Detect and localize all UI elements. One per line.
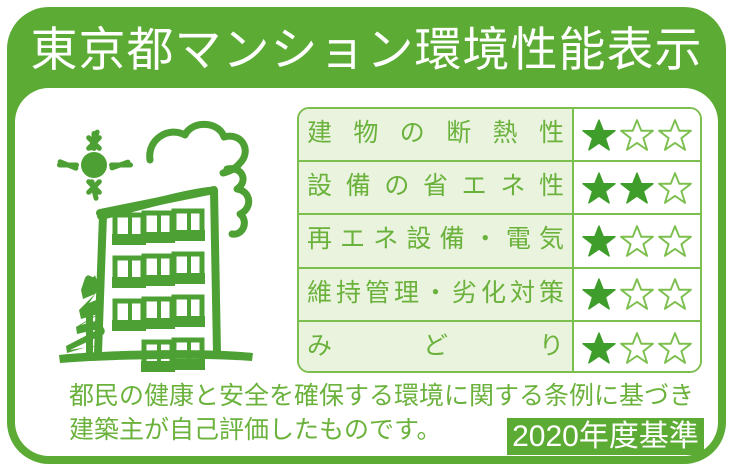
rating-stars [574, 215, 700, 266]
year-standard-badge: 2020年度基準 [507, 418, 704, 455]
rating-stars [574, 269, 700, 320]
star-filled-icon [582, 331, 616, 365]
rating-label: 設備の省エネ性 [299, 162, 574, 213]
star-empty-icon [658, 118, 692, 152]
star-empty-icon [658, 277, 692, 311]
star-filled-icon [582, 118, 616, 152]
table-row: 維持管理・劣化対策 [299, 269, 700, 322]
rating-table: 建物の断熱性 設備の省エネ性 再エネ設備・電気 [297, 107, 702, 373]
rating-label: 建物の断熱性 [299, 109, 574, 160]
rating-stars [574, 162, 700, 213]
page-title: 東京都マンション環境性能表示 [7, 21, 726, 79]
table-row: 建物の断熱性 [299, 109, 700, 162]
star-empty-icon [620, 277, 654, 311]
star-empty-icon [658, 224, 692, 258]
sun-icon [57, 129, 133, 201]
rating-label: みどり [299, 322, 574, 373]
rating-stars [574, 322, 700, 373]
star-empty-icon [658, 171, 692, 205]
rating-label: 維持管理・劣化対策 [299, 269, 574, 320]
table-row: 設備の省エネ性 [299, 162, 700, 215]
star-filled-icon [582, 277, 616, 311]
rating-stars [574, 109, 700, 160]
cloud-icon [150, 124, 249, 234]
star-empty-icon [658, 331, 692, 365]
star-empty-icon [620, 118, 654, 152]
star-empty-icon [620, 331, 654, 365]
rating-label: 再エネ設備・電気 [299, 215, 574, 266]
star-filled-icon [582, 224, 616, 258]
eco-building-illustration [37, 103, 287, 383]
building-windows [112, 211, 205, 372]
table-row: みどり [299, 322, 700, 373]
star-filled-icon [620, 171, 654, 205]
table-row: 再エネ設備・電気 [299, 215, 700, 268]
environmental-performance-label: 東京都マンション環境性能表示 [0, 0, 733, 471]
caption-line-1: 都民の健康と安全を確保する環境に関する条例に基づき [69, 379, 709, 413]
star-empty-icon [620, 224, 654, 258]
outer-green-frame: 東京都マンション環境性能表示 [7, 7, 726, 464]
star-filled-icon [582, 171, 616, 205]
